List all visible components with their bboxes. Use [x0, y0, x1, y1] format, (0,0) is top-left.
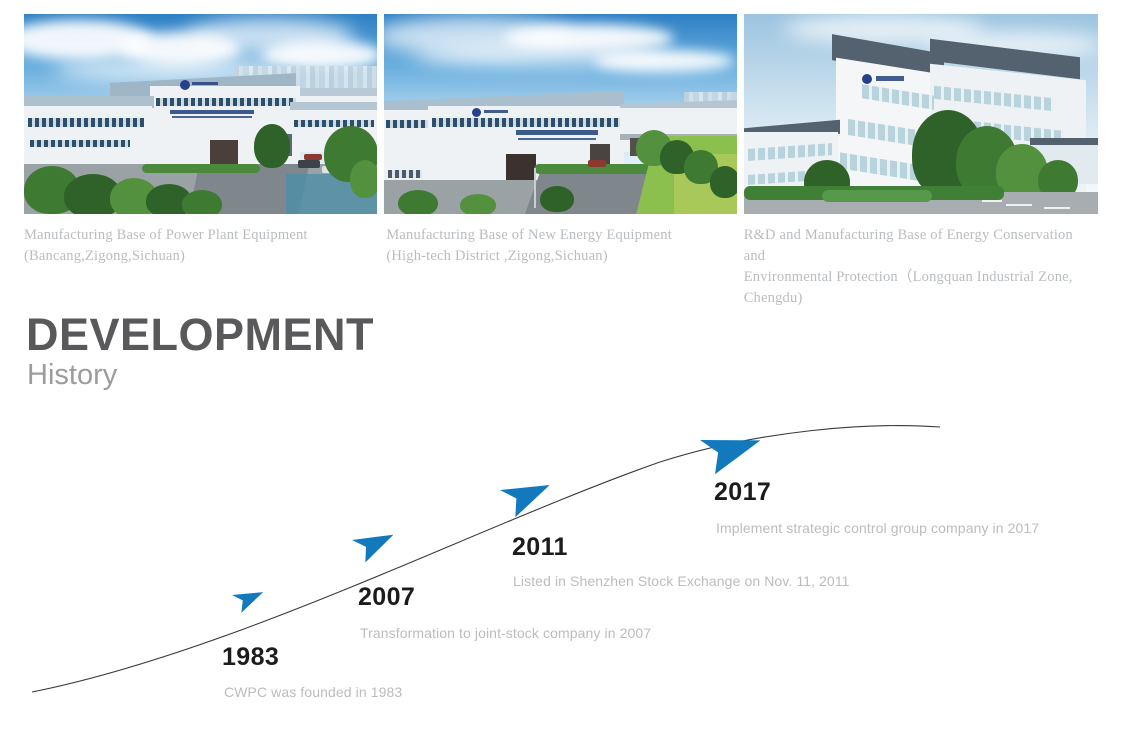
slogan-english: [172, 116, 252, 118]
slogan-chinese: [516, 130, 598, 135]
road-marking: [982, 200, 1002, 202]
tree: [710, 166, 737, 198]
caption-line: R&D and Manufacturing Base of Energy Con…: [744, 225, 1098, 267]
logo-text: [192, 82, 218, 85]
caption-line: Chengdu): [744, 288, 1098, 309]
tree: [460, 194, 496, 214]
timeline-arrow-1983: [232, 584, 267, 614]
photo-strip: [24, 14, 1098, 214]
logo-text: [484, 110, 508, 113]
timeline-graphic: [0, 400, 1122, 740]
slogan-chinese: [170, 110, 254, 114]
car: [304, 154, 322, 160]
timeline-arrow-2017: [700, 424, 766, 476]
tree: [350, 160, 377, 198]
company-logo-icon: [180, 80, 190, 90]
milestone-year-2007: 2007: [358, 583, 415, 612]
caption-line: Manufacturing Base of Power Plant Equipm…: [24, 225, 379, 246]
caption-power-plant-base: Manufacturing Base of Power Plant Equipm…: [24, 225, 379, 309]
window-band: [294, 120, 374, 127]
company-logo-icon: [862, 74, 872, 84]
window-band: [386, 120, 428, 128]
growth-curve-line: [32, 426, 940, 692]
milestone-description-2017: Implement strategic control group compan…: [716, 520, 1039, 536]
caption-rnd-base: R&D and Manufacturing Base of Energy Con…: [744, 225, 1098, 309]
road-marking: [1044, 207, 1070, 209]
cloud: [594, 50, 734, 72]
logo-text: [876, 76, 904, 81]
hedge: [822, 190, 932, 202]
street-lamp: [534, 168, 536, 208]
milestone-year-2011: 2011: [512, 533, 568, 562]
milestone-description-2007: Transformation to joint-stock company in…: [360, 625, 651, 641]
milestone-description-2011: Listed in Shenzhen Stock Exchange on Nov…: [513, 573, 850, 589]
caption-line: Environmental Protection（Longquan Indust…: [744, 267, 1098, 288]
caption-line: Manufacturing Base of New Energy Equipme…: [386, 225, 736, 246]
page-title: DEVELOPMENT: [26, 312, 374, 357]
tree: [182, 190, 222, 214]
caption-line: (High-tech District ,Zigong,Sichuan): [386, 246, 736, 267]
photo-power-plant-base: [24, 14, 377, 214]
tree: [254, 124, 290, 168]
hedge: [142, 164, 260, 173]
window-band: [432, 118, 620, 127]
tree: [398, 190, 438, 214]
slide-canvas: Manufacturing Base of Power Plant Equipm…: [0, 0, 1122, 740]
milestone-year-2017: 2017: [714, 478, 771, 507]
timeline-arrow-2011: [500, 472, 556, 519]
wing-facade: [24, 106, 152, 172]
photo-rnd-base: [744, 14, 1098, 214]
photo-new-energy-base: [384, 14, 737, 214]
photo-captions: Manufacturing Base of Power Plant Equipm…: [24, 225, 1098, 309]
building-roof: [1030, 138, 1098, 145]
road-marking: [1006, 204, 1032, 206]
car: [298, 160, 320, 168]
caption-new-energy-base: Manufacturing Base of New Energy Equipme…: [386, 225, 736, 309]
tree: [540, 186, 574, 212]
milestone-description-1983: CWPC was founded in 1983: [224, 684, 402, 700]
window-band: [30, 140, 130, 147]
development-timeline: 1983 CWPC was founded in 1983 2007 Trans…: [0, 400, 1122, 740]
slogan-english: [518, 138, 596, 140]
page-subtitle: History: [27, 358, 117, 393]
window-band: [28, 118, 144, 127]
company-logo-icon: [472, 108, 481, 117]
window-band: [388, 170, 422, 178]
timeline-arrow-2007: [352, 524, 399, 564]
caption-line: (Bancang,Zigong,Sichuan): [24, 246, 379, 267]
car: [588, 160, 606, 167]
milestone-year-1983: 1983: [222, 643, 279, 672]
window-band: [156, 98, 296, 106]
